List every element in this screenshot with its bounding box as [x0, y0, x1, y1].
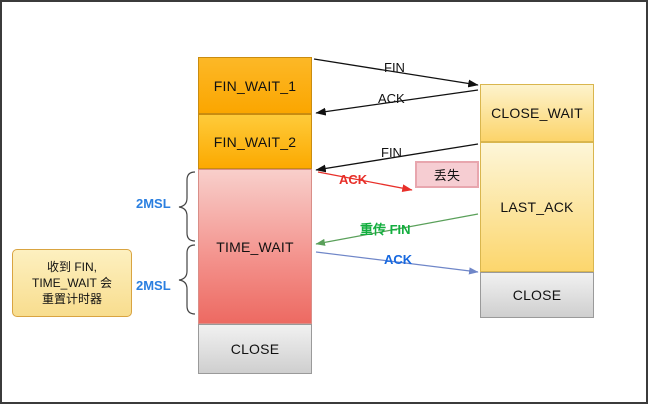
arrow-label-ack-lost: ACK: [339, 172, 367, 187]
state-close-wait[interactable]: CLOSE_WAIT: [480, 84, 594, 142]
note-line-3: 重置计时器: [42, 291, 102, 307]
state-last-ack[interactable]: LAST_ACK: [480, 142, 594, 272]
arrow-label-ack-1: ACK: [378, 91, 405, 106]
state-time-wait[interactable]: TIME_WAIT: [198, 169, 312, 324]
brace-2msl-top: [179, 172, 195, 241]
diagram-canvas: FIN_WAIT_1 FIN_WAIT_2 TIME_WAIT CLOSE CL…: [0, 0, 648, 404]
state-close-server[interactable]: CLOSE: [480, 272, 594, 318]
arrow-label-fin-1: FIN: [384, 60, 405, 75]
timer-label-2msl-bottom: 2MSL: [136, 278, 171, 293]
note-box: 收到 FIN, TIME_WAIT 会 重置计时器: [12, 249, 132, 317]
state-fin-wait-1[interactable]: FIN_WAIT_1: [198, 57, 312, 114]
brace-2msl-bottom: [179, 245, 195, 314]
note-line-1: 收到 FIN,: [47, 259, 97, 275]
arrow-label-retransmit-fin: 重传 FIN: [360, 219, 411, 238]
arrow-label-ack-final: ACK: [384, 252, 412, 267]
lost-packet-box: 丢失: [415, 161, 479, 188]
arrow-label-fin-2: FIN: [381, 145, 402, 160]
state-fin-wait-2[interactable]: FIN_WAIT_2: [198, 114, 312, 169]
state-close-client[interactable]: CLOSE: [198, 324, 312, 374]
timer-label-2msl-top: 2MSL: [136, 196, 171, 211]
note-line-2: TIME_WAIT 会: [32, 275, 112, 291]
